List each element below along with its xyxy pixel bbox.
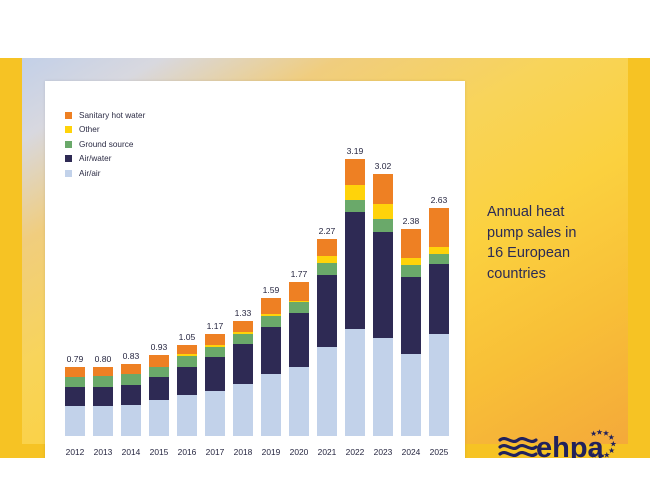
bar-stack-2019	[261, 298, 281, 436]
bar-segment-2024-air-water	[401, 277, 421, 353]
bar-segment-2012-ground-source	[65, 377, 85, 387]
bar-segment-2013-ground-source	[93, 376, 113, 386]
bar-segment-2023-sanitary-hot-water	[373, 174, 393, 204]
bar-group-2020[interactable]: 1.772020	[289, 282, 309, 436]
bar-group-2023[interactable]: 3.022023	[373, 174, 393, 436]
slide: Sanitary hot waterOtherGround sourceAir/…	[0, 22, 650, 458]
bar-segment-2020-air-air	[289, 367, 309, 436]
bar-segment-2023-air-water	[373, 232, 393, 338]
bar-stack-2025	[429, 208, 449, 436]
bar-segment-2015-ground-source	[149, 367, 169, 377]
bar-segment-2019-ground-source	[261, 316, 281, 326]
bar-segment-2021-air-water	[317, 275, 337, 347]
bar-group-2012[interactable]: 0.792012	[65, 367, 85, 436]
bar-total-label-2020: 1.77	[276, 269, 322, 279]
bar-segment-2013-air-water	[93, 387, 113, 406]
bar-total-label-2025: 2.63	[416, 195, 462, 205]
bar-group-2022[interactable]: 3.192022	[345, 159, 365, 436]
x-axis-label-2025: 2025	[416, 447, 462, 457]
bar-total-label-2019: 1.59	[248, 285, 294, 295]
bar-total-label-2016: 1.05	[164, 332, 210, 342]
bar-segment-2025-other	[429, 247, 449, 254]
bar-total-label-2024: 2.38	[388, 216, 434, 226]
bar-stack-2018	[233, 321, 253, 436]
bar-chart-plot-area: 0.7920120.8020130.8320140.9320151.052016…	[45, 81, 465, 458]
bar-segment-2016-sanitary-hot-water	[177, 345, 197, 355]
bar-segment-2018-ground-source	[233, 334, 253, 344]
bar-group-2013[interactable]: 0.802013	[93, 367, 113, 436]
bar-segment-2012-air-water	[65, 387, 85, 405]
bar-total-label-2021: 2.27	[304, 226, 350, 236]
bar-group-2019[interactable]: 1.592019	[261, 298, 281, 436]
bar-total-label-2018: 1.33	[220, 308, 266, 318]
bar-stack-2021	[317, 239, 337, 436]
bar-segment-2017-air-water	[205, 357, 225, 391]
bar-group-2016[interactable]: 1.052016	[177, 345, 197, 436]
bar-segment-2018-sanitary-hot-water	[233, 321, 253, 332]
bar-segment-2021-air-air	[317, 347, 337, 436]
bar-total-label-2014: 0.83	[108, 351, 154, 361]
bar-segment-2020-sanitary-hot-water	[289, 282, 309, 300]
page-title-line-3: 16 European	[487, 243, 617, 264]
bar-total-label-2017: 1.17	[192, 321, 238, 331]
ehpa-waves-icon	[500, 439, 536, 456]
bar-segment-2017-ground-source	[205, 347, 225, 357]
bar-segment-2013-sanitary-hot-water	[93, 367, 113, 377]
bar-group-2018[interactable]: 1.332018	[233, 321, 253, 436]
bar-stack-2015	[149, 355, 169, 436]
bar-segment-2025-air-air	[429, 334, 449, 436]
bar-segment-2024-sanitary-hot-water	[401, 229, 421, 258]
bar-total-label-2015: 0.93	[136, 342, 182, 352]
bar-segment-2025-ground-source	[429, 254, 449, 264]
bar-group-2021[interactable]: 2.272021	[317, 239, 337, 436]
bar-segment-2022-air-air	[345, 329, 365, 436]
bar-segment-2019-air-water	[261, 327, 281, 375]
bar-stack-2013	[93, 367, 113, 436]
chart-panel: Sanitary hot waterOtherGround sourceAir/…	[45, 81, 465, 458]
bar-segment-2021-other	[317, 256, 337, 263]
page-title-line-4: countries	[487, 264, 617, 285]
bar-group-2017[interactable]: 1.172017	[205, 334, 225, 436]
bar-segment-2019-sanitary-hot-water	[261, 298, 281, 314]
bar-segment-2021-ground-source	[317, 263, 337, 274]
bar-segment-2014-air-water	[121, 385, 141, 405]
bar-segment-2019-air-air	[261, 374, 281, 436]
bar-segment-2018-air-air	[233, 384, 253, 436]
bar-stack-2014	[121, 364, 141, 436]
bar-segment-2022-ground-source	[345, 200, 365, 212]
bar-segment-2013-air-air	[93, 406, 113, 436]
bar-segment-2014-ground-source	[121, 374, 141, 384]
bar-stack-2022	[345, 159, 365, 436]
bar-group-2015[interactable]: 0.932015	[149, 355, 169, 436]
bar-segment-2024-ground-source	[401, 265, 421, 277]
bar-segment-2020-air-water	[289, 313, 309, 368]
bar-segment-2016-air-water	[177, 367, 197, 396]
bar-total-label-2022: 3.19	[332, 146, 378, 156]
bar-segment-2022-other	[345, 185, 365, 200]
bar-segment-2015-sanitary-hot-water	[149, 355, 169, 366]
bar-segment-2016-ground-source	[177, 356, 197, 366]
bar-segment-2018-air-water	[233, 344, 253, 384]
bar-segment-2025-air-water	[429, 264, 449, 333]
bar-segment-2022-air-water	[345, 212, 365, 329]
bar-stack-2020	[289, 282, 309, 436]
bar-segment-2017-air-air	[205, 391, 225, 436]
bar-total-label-2023: 3.02	[360, 161, 406, 171]
bar-segment-2015-air-air	[149, 400, 169, 436]
bar-stack-2024	[401, 229, 421, 436]
bar-segment-2014-air-air	[121, 405, 141, 436]
bar-stack-2012	[65, 367, 85, 436]
page-title: Annual heatpump sales in16 Europeancount…	[487, 202, 617, 284]
bar-segment-2025-sanitary-hot-water	[429, 208, 449, 247]
bar-stack-2016	[177, 345, 197, 436]
bar-segment-2023-air-air	[373, 338, 393, 436]
bar-segment-2017-sanitary-hot-water	[205, 334, 225, 344]
bar-segment-2012-sanitary-hot-water	[65, 367, 85, 377]
bar-group-2024[interactable]: 2.382024	[401, 229, 421, 436]
bar-segment-2024-other	[401, 258, 421, 265]
bar-segment-2016-air-air	[177, 395, 197, 436]
bar-stack-2023	[373, 174, 393, 436]
ehpa-logo: ehpa	[498, 426, 618, 458]
bar-group-2014[interactable]: 0.832014	[121, 364, 141, 436]
bar-segment-2020-ground-source	[289, 302, 309, 312]
bar-segment-2014-sanitary-hot-water	[121, 364, 141, 374]
bar-segment-2024-air-air	[401, 354, 421, 436]
bar-segment-2021-sanitary-hot-water	[317, 239, 337, 256]
bar-group-2025[interactable]: 2.632025	[429, 208, 449, 436]
page-title-line-1: Annual heat	[487, 202, 617, 223]
bar-stack-2017	[205, 334, 225, 436]
page-title-line-2: pump sales in	[487, 223, 617, 244]
bar-segment-2012-air-air	[65, 406, 85, 436]
bar-segment-2015-air-water	[149, 377, 169, 400]
